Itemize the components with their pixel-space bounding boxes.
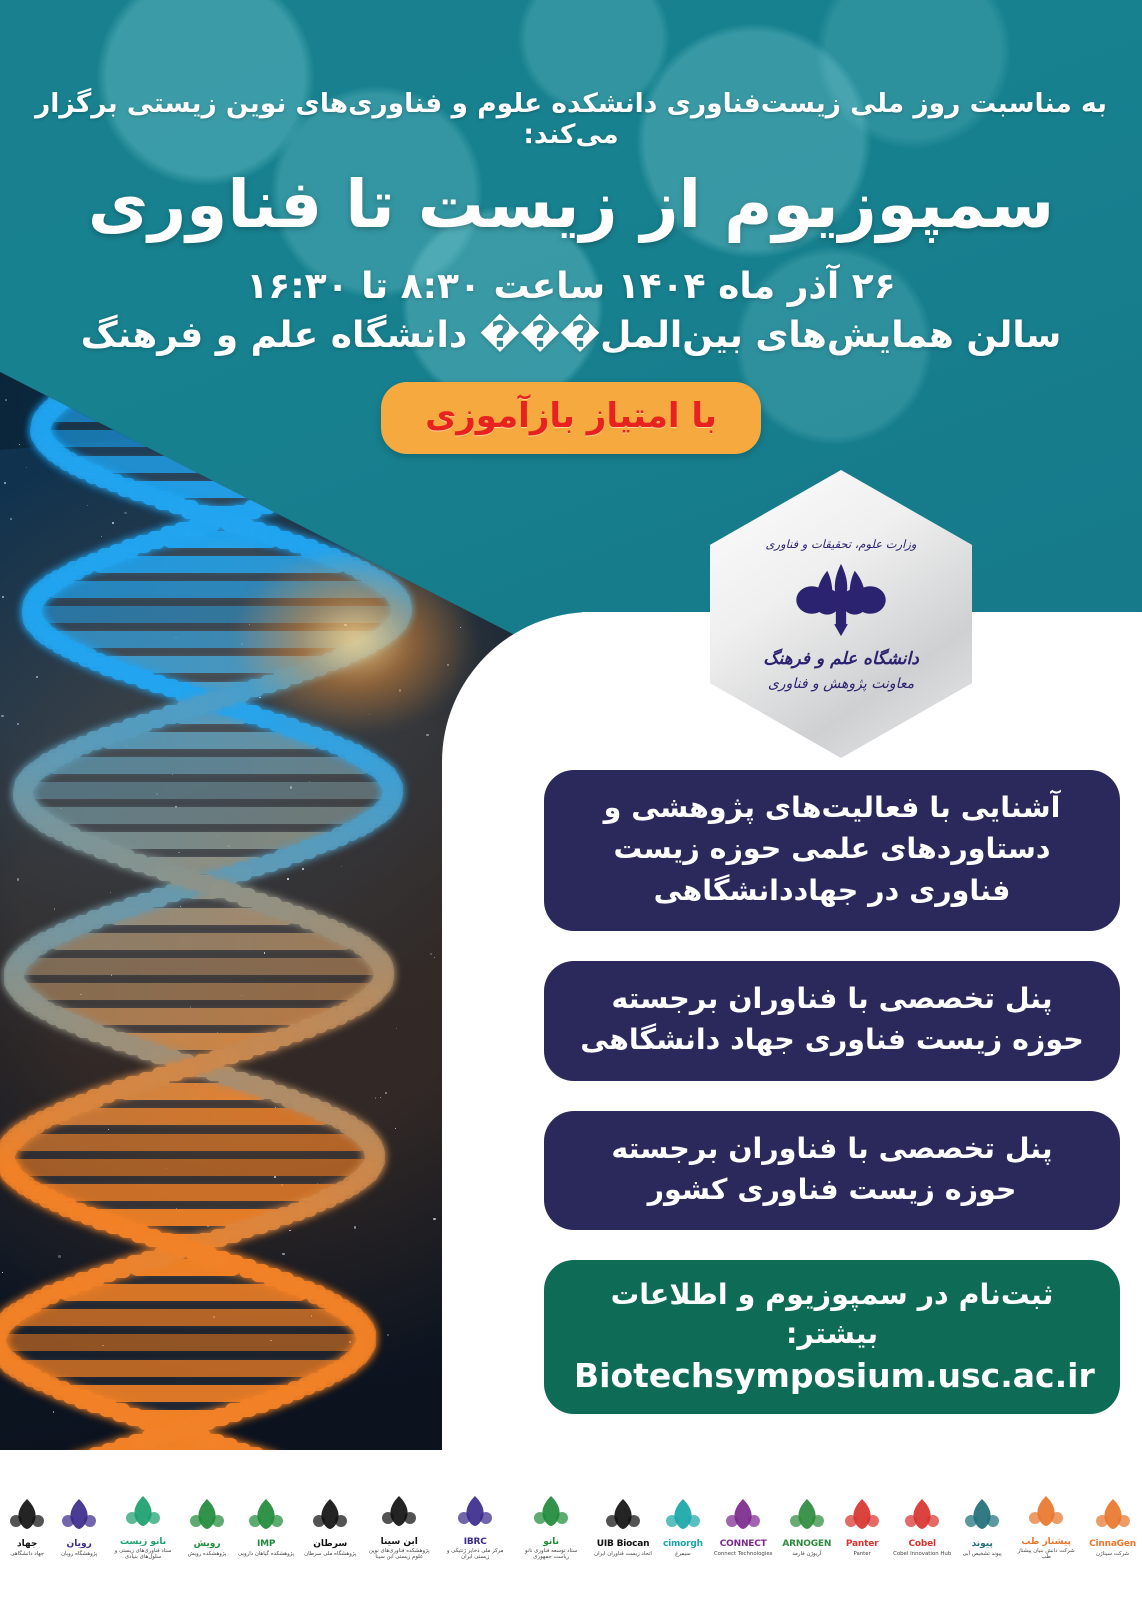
sponsor-label: ستاد فناوری‌های زیستی و سلول‌های بنیادی	[110, 1549, 176, 1560]
sponsor-label: Cobel Innovation Hub	[893, 1552, 951, 1558]
registration-label: ثبت‌نام در سمپوزیوم و اطلاعات بیشتر:	[574, 1276, 1090, 1353]
sponsor-wordmark: نانو زیست	[120, 1538, 166, 1547]
sponsor-label: سیمرغ	[675, 1552, 690, 1558]
poster-root: به مناسبت روز ملی زیست‌فناوری دانشکده عل…	[0, 0, 1142, 1600]
sponsor-logo: IBRCمرکز ملی ذخایر ژنتیکی و زیستی ایران	[442, 1492, 508, 1561]
sponsor-wordmark: Panter	[846, 1540, 878, 1549]
logo-ministry-text: وزارت علوم، تحقیقات و فناوری	[766, 537, 917, 551]
highlight-box-3: پنل تخصصی با فناوران برجسته حوزه زیست فن…	[544, 1111, 1120, 1231]
sponsor-mark-icon	[602, 1495, 644, 1539]
sponsor-wordmark: CinnaGen	[1089, 1540, 1136, 1549]
sponsor-mark-icon	[122, 1492, 164, 1536]
sponsor-label: Panter	[853, 1552, 870, 1558]
sponsor-label: پژوهشکده رویش	[188, 1552, 227, 1558]
sponsor-mark-icon	[786, 1495, 828, 1539]
highlight-box-1: آشنایی با فعالیت‌های پژوهشی و دستاوردهای…	[544, 770, 1120, 931]
sponsor-wordmark: IBRC	[464, 1538, 487, 1547]
event-datetime: ۲۶ آذر ماه ۱۴۰۴ ساعت ۸:۳۰ تا ۱۶:۳۰	[0, 266, 1142, 307]
sponsor-wordmark: CONNECT	[720, 1540, 767, 1549]
sponsor-label: شرکت دانش بنیان پیشتاز طب	[1013, 1549, 1079, 1560]
sponsor-wordmark: رویش	[194, 1540, 221, 1549]
sponsor-label: اتحاد زیست فناوران ایران	[594, 1552, 652, 1558]
logo-university-text: دانشگاه علم و فرهنگ	[763, 649, 919, 669]
sponsor-mark-icon	[186, 1495, 228, 1539]
sponsor-mark-icon	[454, 1492, 496, 1536]
sponsor-label: پژوهشکده فناوری‌های نوین علوم زیستی ابن …	[366, 1549, 432, 1560]
sponsor-logo: نانوستاد توسعه فناوری نانو ریاست جمهوری	[518, 1492, 584, 1561]
sponsor-logo: پیوندپیوند تشخیص آبی	[961, 1495, 1003, 1558]
program-highlights: آشنایی با فعالیت‌های پژوهشی و دستاوردهای…	[544, 770, 1120, 1414]
sponsor-logo: UIB Biocanاتحاد زیست فناوران ایران	[594, 1495, 652, 1558]
sponsor-logo: CinnaGenشرکت سیناژن	[1089, 1495, 1136, 1558]
sponsor-logo-strip: CinnaGenشرکت سیناژنپیشتاز طبشرکت دانش بن…	[0, 1452, 1142, 1600]
sponsor-wordmark: ARNOGEN	[782, 1540, 831, 1549]
sponsor-mark-icon	[378, 1492, 420, 1536]
sponsor-wordmark: سرطان	[313, 1540, 347, 1549]
highlight-box-2: پنل تخصصی با فناوران برجسته حوزه زیست فن…	[544, 961, 1120, 1081]
sponsor-label: شرکت سیناژن	[1096, 1552, 1129, 1558]
sponsor-logo: CONNECTConnect Technologies	[714, 1495, 773, 1558]
sponsor-logo: سرطانپژوهشگاه ملی سرطان	[304, 1495, 356, 1558]
logo-department-text: معاونت پژوهش و فناوری	[768, 676, 914, 692]
page-title: سمپوزیوم از زیست تا فناوری	[0, 166, 1142, 244]
sponsor-mark-icon	[1092, 1495, 1134, 1539]
registration-url[interactable]: Biotechsymposium.usc.ac.ir	[574, 1355, 1090, 1396]
sponsor-label: ستاد توسعه فناوری نانو ریاست جمهوری	[518, 1549, 584, 1560]
sponsor-wordmark: پیشتاز طب	[1021, 1538, 1071, 1547]
sponsor-logo: IMPپژوهشکده گیاهان دارویی	[238, 1495, 294, 1558]
badge-wrapper: با امتیاز بازآموزی	[0, 382, 1142, 454]
sponsor-wordmark: جهاد	[17, 1540, 37, 1549]
sponsor-logo: نانو زیستستاد فناوری‌های زیستی و سلول‌ها…	[110, 1492, 176, 1561]
sponsor-mark-icon	[530, 1492, 572, 1536]
sponsor-wordmark: UIB Biocan	[597, 1540, 650, 1549]
sponsor-logo: ابن سیناپژوهشکده فناوری‌های نوین علوم زی…	[366, 1492, 432, 1561]
sponsor-label: جهاد دانشگاهی	[10, 1552, 44, 1558]
sponsor-wordmark: IMP	[257, 1540, 275, 1549]
sponsor-label: آریوژن فارمد	[792, 1552, 821, 1558]
sponsor-logo: رویانپژوهشگاه رویان	[58, 1495, 100, 1558]
sponsor-mark-icon	[901, 1495, 943, 1539]
sponsor-wordmark: ابن سینا	[381, 1538, 418, 1547]
tulip-emblem-icon	[789, 557, 893, 643]
sponsor-wordmark: نانو	[543, 1538, 559, 1547]
registration-box[interactable]: ثبت‌نام در سمپوزیوم و اطلاعات بیشتر: Bio…	[544, 1260, 1120, 1414]
sponsor-wordmark: رویان	[67, 1540, 92, 1549]
sponsor-label: پژوهشکده گیاهان دارویی	[238, 1552, 294, 1558]
sponsor-label: پیوند تشخیص آبی	[963, 1552, 1002, 1558]
sponsor-wordmark: پیوند	[972, 1540, 993, 1549]
kicker-text: به مناسبت روز ملی زیست‌فناوری دانشکده عل…	[0, 88, 1142, 150]
sponsor-logo: CobelCobel Innovation Hub	[893, 1495, 951, 1558]
sponsor-logo: PanterPanter	[841, 1495, 883, 1558]
sponsor-mark-icon	[58, 1495, 100, 1539]
sponsor-label: Connect Technologies	[714, 1552, 773, 1558]
sponsor-logo: ARNOGENآریوژن فارمد	[782, 1495, 831, 1558]
sponsor-label: مرکز ملی ذخایر ژنتیکی و زیستی ایران	[442, 1549, 508, 1560]
sponsor-mark-icon	[841, 1495, 883, 1539]
sponsor-mark-icon	[245, 1495, 287, 1539]
sponsor-wordmark: cimorgh	[663, 1540, 703, 1549]
event-venue: سالن همایش‌های بین‌المل��� دانشگاه علم و…	[0, 315, 1142, 356]
sponsor-logo: cimorghسیمرغ	[662, 1495, 704, 1558]
sponsor-logo: رویشپژوهشکده رویش	[186, 1495, 228, 1558]
sponsor-label: پژوهشگاه ملی سرطان	[304, 1552, 356, 1558]
sponsor-mark-icon	[309, 1495, 351, 1539]
sponsor-mark-icon	[6, 1495, 48, 1539]
sponsor-logo: پیشتاز طبشرکت دانش بنیان پیشتاز طب	[1013, 1492, 1079, 1561]
sponsor-mark-icon	[662, 1495, 704, 1539]
sponsor-label: پژوهشگاه رویان	[61, 1552, 97, 1558]
sponsor-wordmark: Cobel	[908, 1540, 935, 1549]
header-zone: به مناسبت روز ملی زیست‌فناوری دانشکده عل…	[0, 0, 1142, 356]
sponsor-mark-icon	[1025, 1492, 1067, 1536]
sponsor-mark-icon	[961, 1495, 1003, 1539]
sponsor-logo: جهادجهاد دانشگاهی	[6, 1495, 48, 1558]
retraining-credit-badge: با امتیاز بازآموزی	[381, 382, 761, 454]
sponsor-mark-icon	[722, 1495, 764, 1539]
